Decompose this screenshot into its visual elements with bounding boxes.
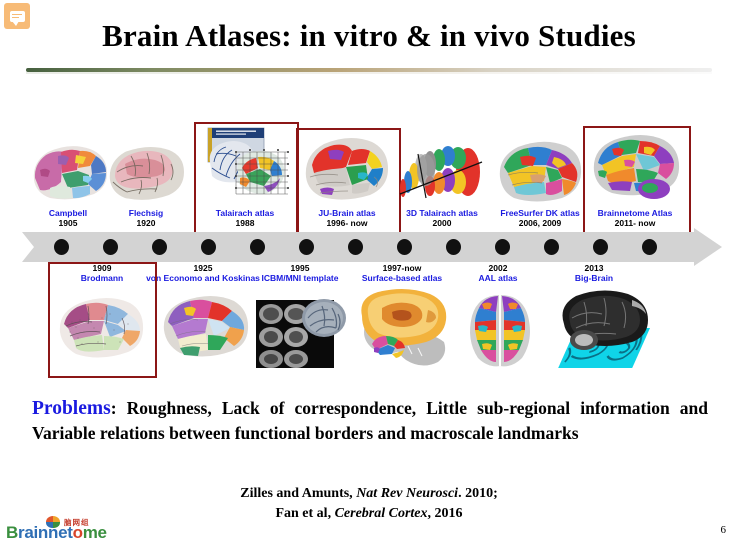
event-label-aal: 2002 AAL atlas	[452, 264, 544, 284]
event-label-flechsig: Flechsig 1920	[98, 209, 194, 229]
citation-1-authors: Zilles and Amunts,	[240, 486, 356, 501]
timeline-arrow	[22, 232, 722, 262]
timeline-dot	[152, 239, 167, 255]
title-divider	[26, 68, 712, 72]
event-label-icbm-mni: 1995 ICBM/MNI template	[248, 264, 352, 284]
brain-image-flechsig	[105, 142, 189, 206]
problems-text: : Roughness, Lack of correspondence, Lit…	[32, 398, 708, 443]
page-number: 6	[721, 524, 727, 536]
logo-wordmark: Brainnetome	[6, 523, 107, 543]
event-label-3d-talairach: 3D Talairach atlas 2000	[393, 209, 491, 229]
event-label-ju-brain: JU-Brain atlas 1996- now	[298, 209, 396, 229]
timeline-dot	[593, 239, 608, 255]
timeline-dot	[544, 239, 559, 255]
problems-keyword: Problems	[32, 398, 111, 419]
brain-image-aal	[460, 292, 540, 368]
brainnetome-logo: 脑网组 Brainnetome	[4, 518, 124, 544]
brain-image-brodmann	[54, 294, 148, 368]
brain-image-campbell	[28, 140, 112, 206]
event-label-freesurfer-dk: FreeSurfer DK atlas 2006, 2009	[489, 209, 591, 229]
problems-paragraph: Problems: Roughness, Lack of corresponde…	[32, 396, 708, 446]
timeline-dot	[103, 239, 118, 255]
event-label-surface-based: 1997-now Surface-based atlas	[348, 264, 456, 284]
citation-1-journal: Nat Rev Neurosci	[356, 486, 458, 501]
citation-2-authors: Fan et al,	[275, 506, 334, 521]
brain-image-big-brain	[548, 288, 664, 374]
timeline-arrowhead	[694, 228, 722, 266]
timeline-dot	[54, 239, 69, 255]
brain-image-von-economo	[158, 292, 254, 368]
brain-image-ju-brain	[300, 133, 394, 209]
slide: Brain Atlases: in vitro & in vivo Studie…	[0, 0, 738, 546]
citation-2-journal: Cerebral Cortex	[335, 506, 428, 521]
timeline-dot	[397, 239, 412, 255]
brain-image-surface-based	[352, 288, 464, 374]
event-label-brainnetome: Brainnetome Atlas 2011- now	[583, 209, 687, 229]
event-label-big-brain: 2013 Big-Brain	[548, 264, 640, 284]
timeline-dot	[299, 239, 314, 255]
page-title: Brain Atlases: in vitro & in vivo Studie…	[0, 18, 738, 54]
brain-image-brainnetome	[588, 131, 684, 209]
brain-image-freesurfer-dk	[494, 137, 586, 209]
timeline-dot	[495, 239, 510, 255]
citation-1-year: . 2010;	[458, 486, 498, 501]
timeline-dot	[201, 239, 216, 255]
timeline-dot	[250, 239, 265, 255]
timeline-dot	[642, 239, 657, 255]
citation-2-year: , 2016	[428, 506, 463, 521]
timeline-dot	[446, 239, 461, 255]
brain-image-talairach-atlas	[200, 126, 290, 210]
citation-line-1: Zilles and Amunts, Nat Rev Neurosci. 201…	[0, 484, 738, 504]
brain-image-icbm-mni	[254, 294, 350, 370]
brain-image-3d-talairach	[396, 136, 488, 210]
event-label-talairach-atlas: Talairach atlas 1988	[196, 209, 294, 229]
timeline-dot	[348, 239, 363, 255]
